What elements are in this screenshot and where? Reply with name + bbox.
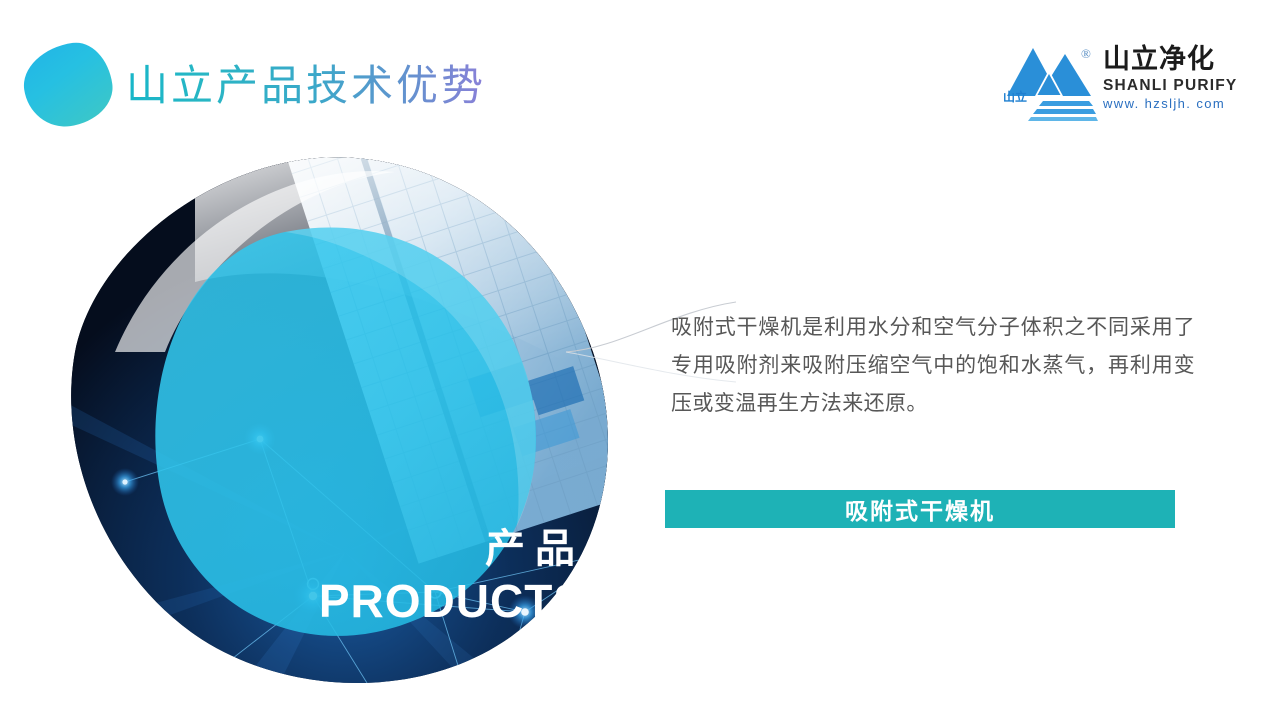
banner-label: 吸附式干燥机 (845, 492, 995, 526)
logo-text-block: 山立净化 SHANLI PURIFY www. hzsljh. com (1103, 44, 1235, 112)
description-paragraph: 吸附式干燥机是利用水分和空气分子体积之不同采用了专用吸附剂来吸附压缩空气中的饱和… (671, 308, 1195, 422)
company-name-cn: 山立净化 (1103, 44, 1235, 76)
status-badge: 吸附式干燥机 (665, 490, 1175, 528)
logo-mark-label: 山立 (1003, 88, 1027, 105)
registered-mark-icon: ® (1081, 46, 1091, 62)
company-logo: ® 山立 山立净化 SHANLI PURIFY www. hzsljh. com (1003, 38, 1235, 126)
page-title: 山立产品技术优势 (126, 58, 486, 114)
company-website: www. hzsljh. com (1103, 95, 1235, 112)
slide-canvas: 山立产品技术优势 ® 山立 山立净化 SHANLI PURIFY www. hz… (0, 0, 1280, 720)
blob-icon (19, 38, 118, 131)
company-name-en: SHANLI PURIFY (1103, 76, 1235, 95)
product-blob-graphic: 产品 PRODUCTS (55, 152, 635, 692)
product-blob-svg (55, 152, 635, 692)
